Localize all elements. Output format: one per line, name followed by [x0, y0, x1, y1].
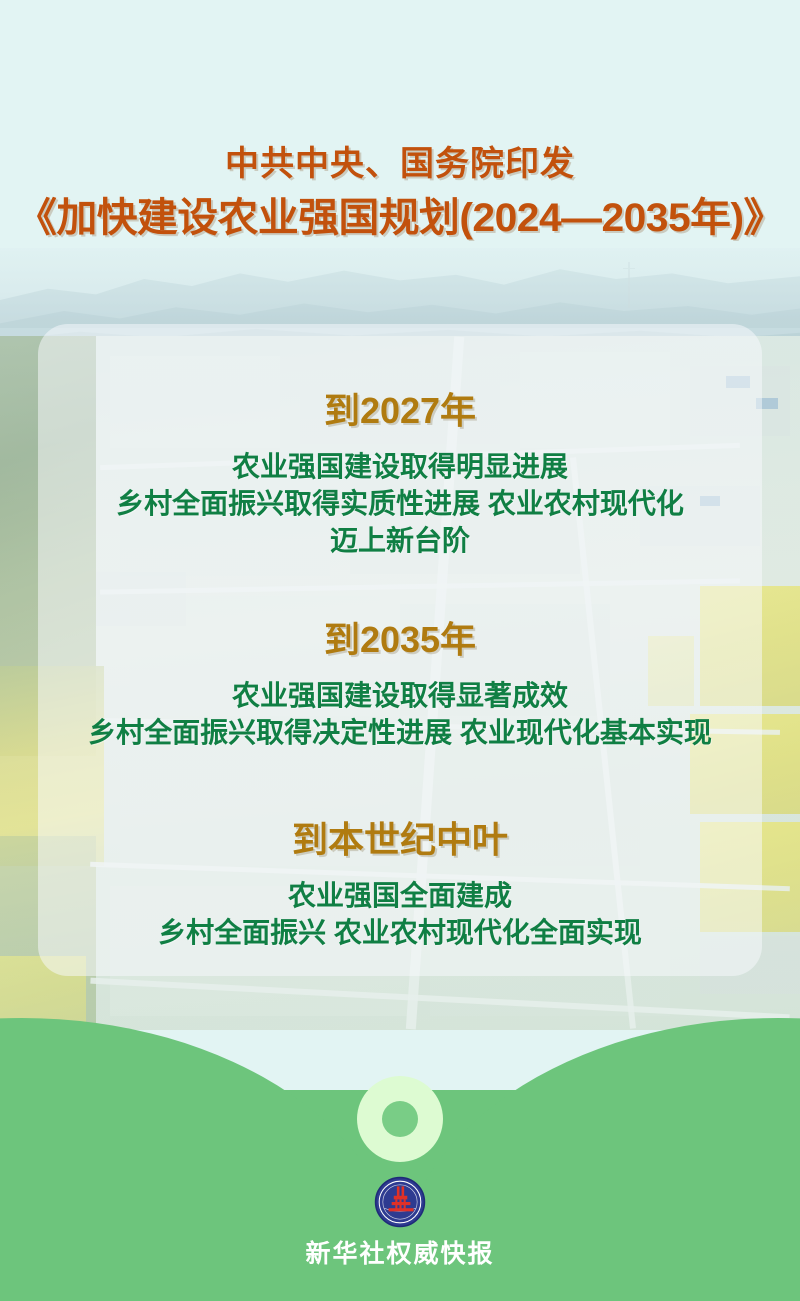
milestone-block-2027: 到2027年 农业强国建设取得明显进展 乡村全面振兴取得实质性进展 农业农村现代…: [38, 382, 762, 559]
milestone-heading: 到本世纪中叶: [38, 811, 762, 863]
milestone-line: 迈上新台阶: [38, 522, 762, 559]
footer-caption: 新华社权威快报: [0, 1234, 800, 1270]
decorative-ring: [357, 1076, 443, 1162]
xinhua-logo-icon: [374, 1176, 426, 1228]
title-line-2: 《加快建设农业强国规划(2024—2035年)》: [0, 185, 800, 243]
milestone-line: 乡村全面振兴 农业农村现代化全面实现: [38, 914, 762, 951]
footer: 新华社权威快报: [0, 1176, 800, 1276]
content-text: 到2027年 农业强国建设取得明显进展 乡村全面振兴取得实质性进展 农业农村现代…: [38, 324, 762, 976]
milestone-block-midcentury: 到本世纪中叶 农业强国全面建成 乡村全面振兴 农业农村现代化全面实现: [38, 811, 762, 951]
milestone-heading: 到2035年: [38, 611, 762, 663]
title-line-1: 中共中央、国务院印发: [0, 136, 800, 185]
milestone-line: 乡村全面振兴取得实质性进展 农业农村现代化: [38, 485, 762, 522]
poster-root: 中共中央、国务院印发 《加快建设农业强国规划(2024—2035年)》 到202…: [0, 0, 800, 1301]
title-zone: 中共中央、国务院印发 《加快建设农业强国规划(2024—2035年)》: [0, 0, 800, 248]
milestone-heading: 到2027年: [38, 382, 762, 434]
milestone-line: 乡村全面振兴取得决定性进展 农业现代化基本实现: [38, 714, 762, 751]
xinhua-logo: [374, 1176, 426, 1228]
milestone-block-2035: 到2035年 农业强国建设取得显著成效 乡村全面振兴取得决定性进展 农业现代化基…: [38, 611, 762, 751]
milestone-line: 农业强国建设取得明显进展: [38, 448, 762, 485]
milestone-line: 农业强国全面建成: [38, 877, 762, 914]
milestone-line: 农业强国建设取得显著成效: [38, 677, 762, 714]
